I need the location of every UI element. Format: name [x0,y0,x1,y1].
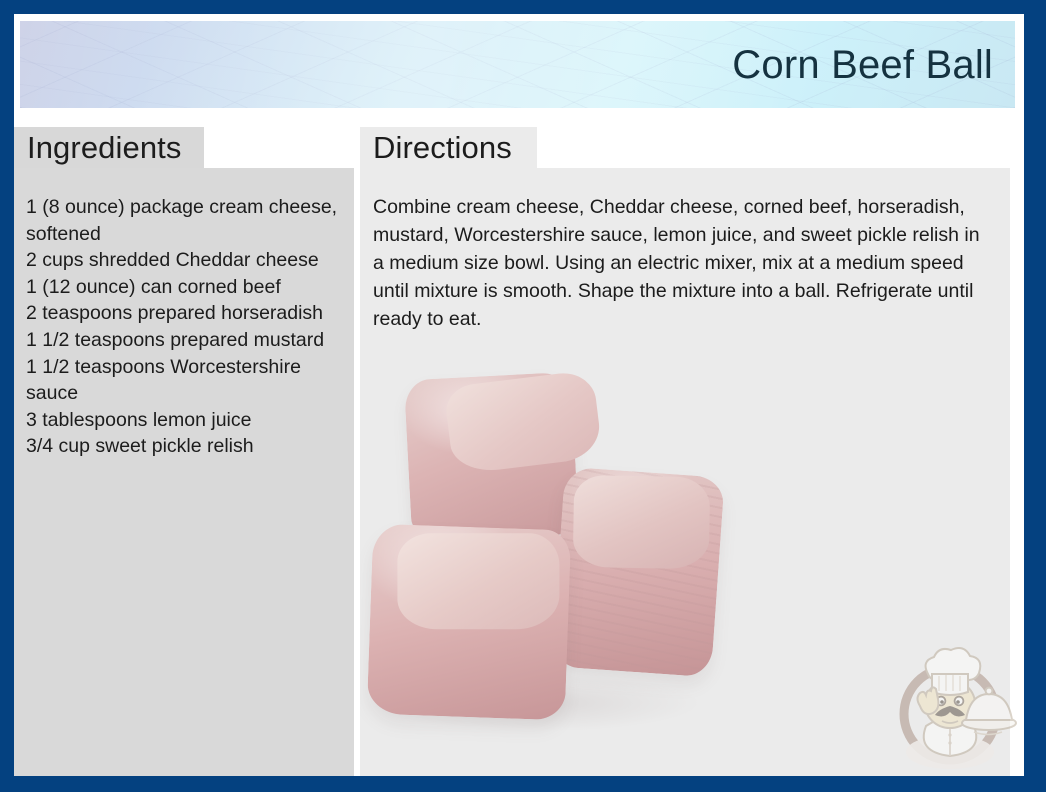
list-item: 1 1/2 teaspoons Worcestershire sauce [26,354,340,407]
recipe-slide: Corn Beef Ball Ingredients Directions 1 … [0,0,1046,792]
directions-text: Combine cream cheese, Cheddar cheese, co… [373,193,994,333]
slide-border-top [0,0,1046,14]
chef-logo-watermark [892,644,1020,770]
list-item: 3 tablespoons lemon juice [26,407,340,434]
beef-cube-back-top-face [443,369,603,475]
ingredients-heading: Ingredients [14,127,204,168]
beef-cube-back [404,372,579,543]
slide-border-left [0,0,14,792]
slide-border-right [1024,0,1046,792]
beef-cube-right [551,467,725,678]
list-item: 1 (8 ounce) package cream cheese, soften… [26,194,340,247]
ingredients-panel: 1 (8 ounce) package cream cheese, soften… [14,168,354,776]
directions-heading: Directions [360,127,537,168]
corned-beef-cubes-photo [368,374,758,739]
slide-border-bottom [0,776,1046,792]
beef-cube-front-top-face [397,533,559,629]
page-title: Corn Beef Ball [732,44,993,86]
header-banner: Corn Beef Ball [20,21,1015,108]
list-item: 1 (12 ounce) can corned beef [26,274,340,301]
list-item: 1 1/2 teaspoons prepared mustard [26,327,340,354]
list-item: 2 teaspoons prepared horseradish [26,300,340,327]
beef-cube-front [367,524,572,721]
ingredients-list: 1 (8 ounce) package cream cheese, soften… [26,194,340,460]
list-item: 2 cups shredded Cheddar cheese [26,247,340,274]
list-item: 3/4 cup sweet pickle relish [26,433,340,460]
beef-cube-right-top-face [573,475,711,569]
